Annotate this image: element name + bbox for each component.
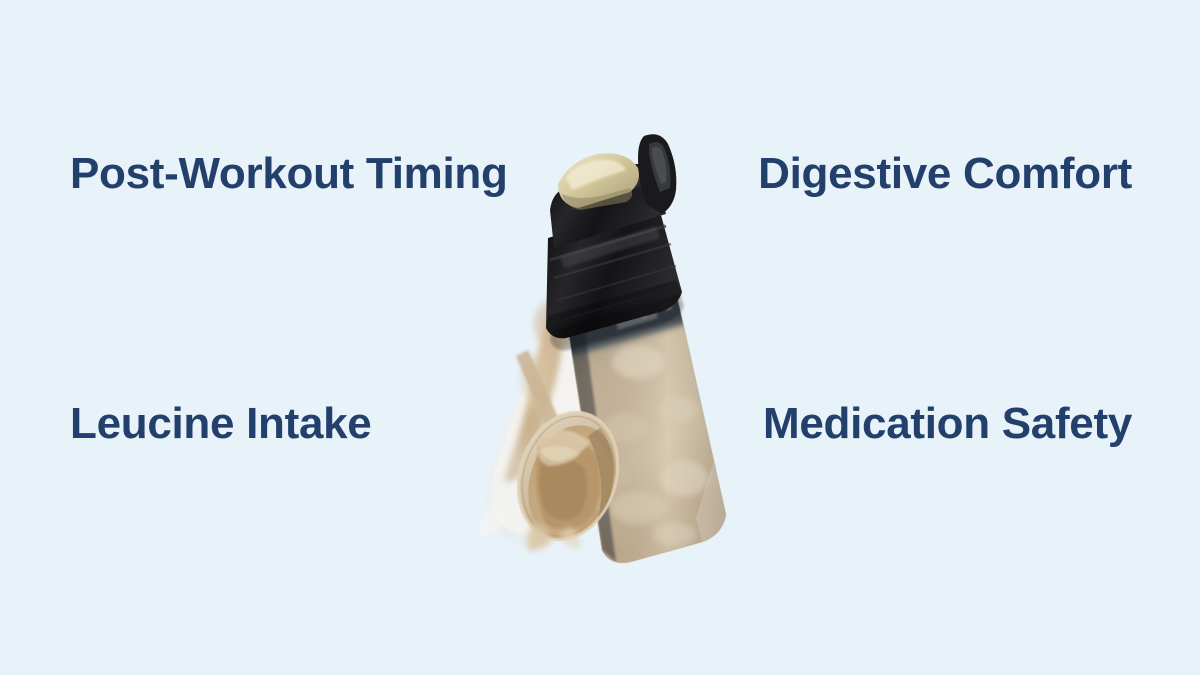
label-leucine-intake: Leucine Intake xyxy=(70,402,371,446)
slide-canvas: Post-Workout Timing Digestive Comfort Le… xyxy=(0,0,1200,675)
label-medication-safety: Medication Safety xyxy=(763,402,1132,446)
protein-shaker-bottle-photo xyxy=(430,110,780,570)
label-digestive-comfort: Digestive Comfort xyxy=(758,152,1132,196)
